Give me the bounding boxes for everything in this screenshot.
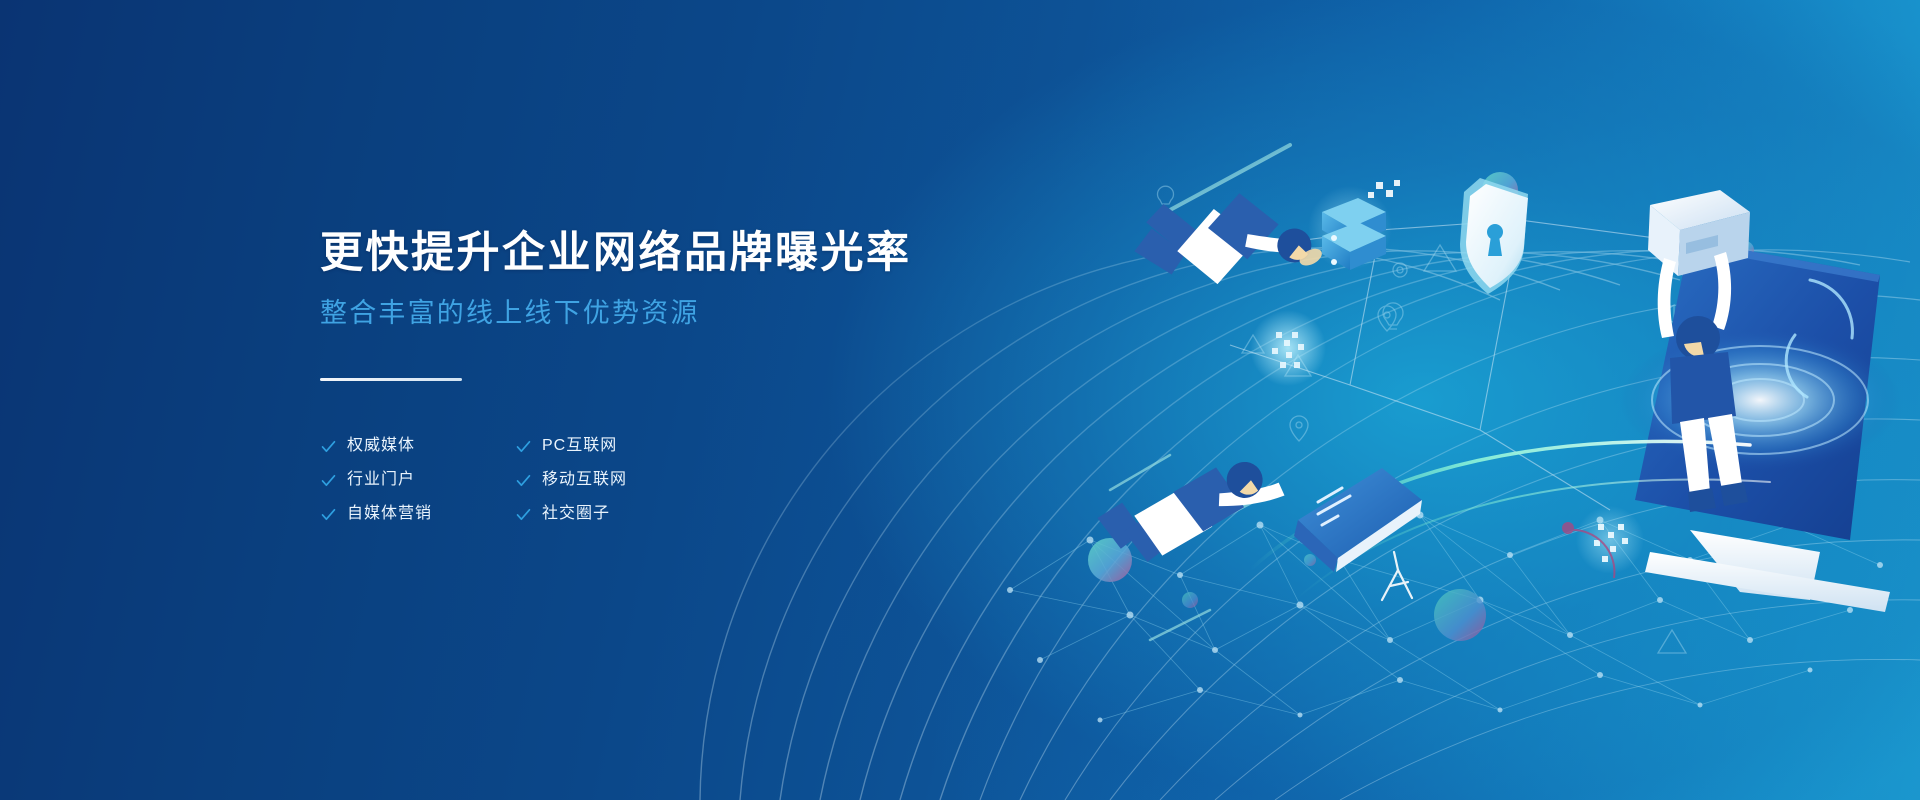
feature-label: 移动互联网: [542, 472, 627, 488]
feature-label: 社交圈子: [542, 506, 610, 522]
shoe-right: [1720, 482, 1748, 506]
illustration-graphics: [1050, 100, 1920, 720]
check-icon: [320, 506, 337, 523]
feature-item-social-circle[interactable]: 社交圈子: [515, 497, 740, 531]
feature-label: 自媒体营销: [347, 506, 432, 522]
antenna-glyph: [1382, 552, 1412, 600]
check-icon: [515, 438, 532, 455]
feature-list: 权威媒体 PC互联网 行业门户 移动互联网: [320, 429, 740, 531]
divider: [320, 378, 462, 381]
feature-label: PC互联网: [542, 438, 617, 454]
hero-banner: 更快提升企业网络品牌曝光率 整合丰富的线上线下优势资源 权威媒体 PC互联网: [0, 0, 1920, 800]
torso: [1670, 352, 1736, 424]
feature-item-authoritative-media[interactable]: 权威媒体: [320, 429, 515, 463]
floating-person-upper: [1121, 149, 1324, 335]
feature-label: 权威媒体: [347, 438, 415, 454]
feature-item-self-media-marketing[interactable]: 自媒体营销: [320, 497, 515, 531]
check-icon: [515, 472, 532, 489]
check-icon: [320, 438, 337, 455]
shoe-left: [1688, 488, 1716, 512]
feature-item-industry-portal[interactable]: 行业门户: [320, 463, 515, 497]
digital-network-illustration: [1050, 100, 1920, 720]
page-title: 更快提升企业网络品牌曝光率: [320, 228, 1040, 279]
server-stack-icon: [1308, 180, 1400, 270]
page-subtitle: 整合丰富的线上线下优势资源: [320, 297, 1040, 331]
floating-person-lower: [1093, 451, 1292, 571]
banner-content: 更快提升企业网络品牌曝光率 整合丰富的线上线下优势资源 权威媒体 PC互联网: [320, 228, 1040, 531]
check-icon: [515, 506, 532, 523]
feature-item-mobile-internet[interactable]: 移动互联网: [515, 463, 740, 497]
feature-label: 行业门户: [347, 472, 415, 488]
feature-item-pc-internet[interactable]: PC互联网: [515, 429, 740, 463]
shield-lock-icon: [1460, 178, 1528, 294]
check-icon: [320, 472, 337, 489]
glowing-vortex: [1620, 328, 1900, 472]
smartphone-icon: [1294, 468, 1422, 572]
